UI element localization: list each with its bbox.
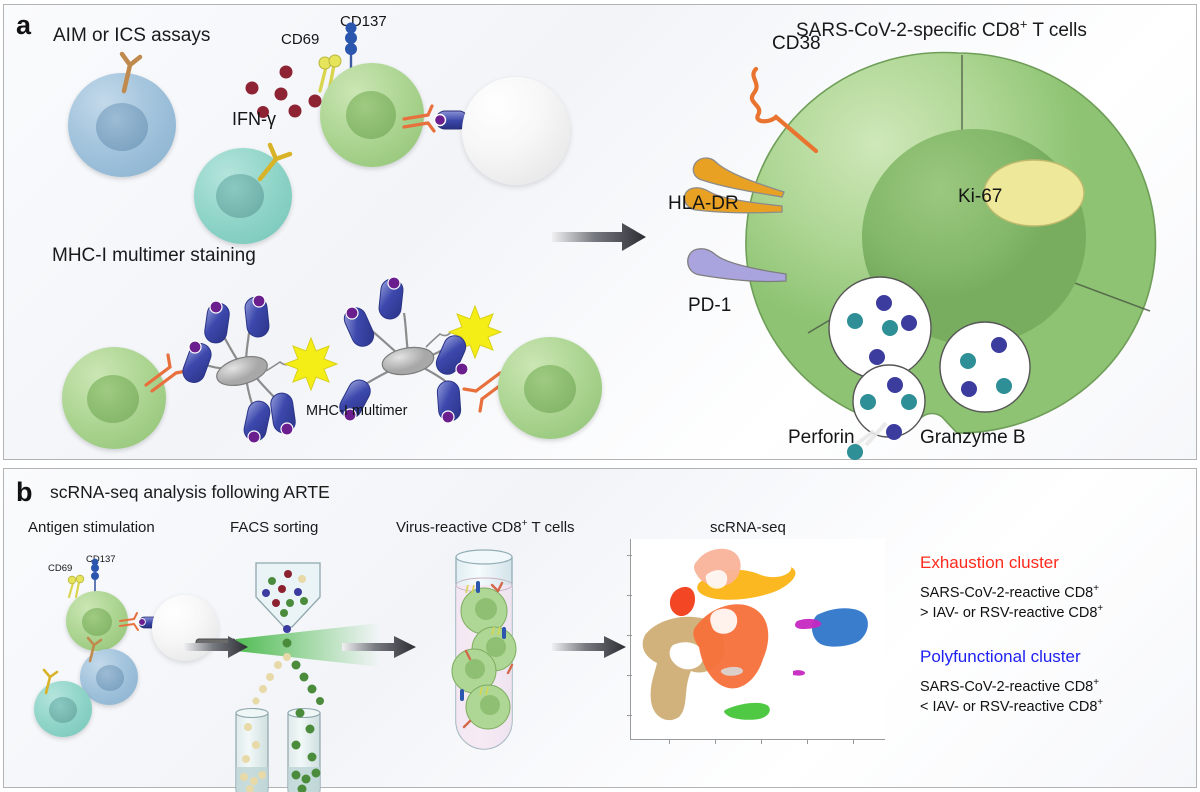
cell-nucleus xyxy=(96,103,148,151)
tcr-icon-blue-cell xyxy=(104,49,154,95)
facs-sorter xyxy=(230,561,420,761)
tcr-icon-teal-cell xyxy=(252,139,304,185)
cell-nucleus xyxy=(87,375,139,423)
pd1-label: PD-1 xyxy=(688,295,731,317)
collection-tube-left xyxy=(236,709,268,792)
poly-line1-sup: + xyxy=(1093,677,1099,688)
arrow-right-panel-a xyxy=(552,220,652,256)
umap-cluster-magenta xyxy=(793,619,821,676)
granule-1 xyxy=(829,277,931,379)
umap-x-tick xyxy=(715,739,716,744)
antigen-stimulation-heading: Antigen stimulation xyxy=(28,519,155,536)
cell-culture-tube xyxy=(446,549,536,749)
umap-cluster-green xyxy=(724,703,770,720)
released-granzyme xyxy=(886,424,902,440)
virus-reactive-heading: Virus-reactive CD8+ T cells xyxy=(396,519,575,536)
panel-b: b scRNA-seq analysis following ARTE Anti… xyxy=(3,468,1197,788)
panel-a-label: a xyxy=(16,10,31,41)
panel-b-title: scRNA-seq analysis following ARTE xyxy=(50,482,330,503)
polyfunctional-cluster-title: Polyfunctional cluster xyxy=(920,647,1081,667)
umap-x-tick xyxy=(761,739,762,744)
ifn-gamma-label: IFN-γ xyxy=(232,109,276,130)
tcr-icon-blue-b xyxy=(78,635,112,663)
panel-b-label: b xyxy=(16,477,32,508)
cell-nucleus xyxy=(49,697,77,723)
umap-cluster-blue xyxy=(812,608,868,646)
granzyme-b-label: Granzyme B xyxy=(920,427,1026,449)
cell-nucleus xyxy=(524,365,576,413)
cd38-icon xyxy=(746,53,876,153)
umap-x-tick xyxy=(669,739,670,744)
umap-y-tick xyxy=(627,555,632,556)
cd38-label: CD38 xyxy=(772,33,821,55)
umap-y-tick xyxy=(627,635,632,636)
polyfunctional-cluster-body: SARS-CoV-2-reactive CD8+ < IAV- or RSV-r… xyxy=(920,678,1103,717)
granule-2 xyxy=(940,322,1030,412)
collection-tube-right xyxy=(288,709,321,792)
arrow-right-b-2 xyxy=(342,635,422,661)
perforin-label: Perforin xyxy=(788,427,855,449)
hla-dr-label: HLA-DR xyxy=(668,193,739,215)
apc-bead xyxy=(462,77,570,185)
right-title-pre: SARS-CoV-2-specific CD8 xyxy=(796,20,1020,41)
exhaustion-cluster-body: SARS-CoV-2-reactive CD8+ > IAV- or RSV-r… xyxy=(920,584,1103,623)
panel-a: a AIM or ICS assays MHC-I multimer stain… xyxy=(3,4,1197,460)
umap-cluster-red xyxy=(670,587,695,616)
poly-line1: SARS-CoV-2-reactive CD8 xyxy=(920,679,1093,695)
poly-line2: < IAV- or RSV-reactive CD8 xyxy=(920,699,1097,715)
virus-reactive-post: T cells xyxy=(528,519,575,536)
umap-clusters xyxy=(631,539,885,739)
mhc-multimer-label: MHC-I multimer xyxy=(306,403,408,419)
tcr-icon-teal-b xyxy=(34,667,68,695)
virus-reactive-pre: Virus-reactive CD8 xyxy=(396,519,522,536)
panel-a-heading-multimer: MHC-I multimer staining xyxy=(52,245,256,267)
panel-a-heading-aim: AIM or ICS assays xyxy=(53,25,210,47)
cell-nucleus xyxy=(82,608,112,636)
ki67-label: Ki-67 xyxy=(958,186,1002,208)
figure-root: a AIM or ICS assays MHC-I multimer stain… xyxy=(0,0,1200,792)
exhaustion-cluster-title: Exhaustion cluster xyxy=(920,553,1059,573)
exh-line2: > IAV- or RSV-reactive CD8 xyxy=(920,605,1097,621)
umap-y-tick xyxy=(627,715,632,716)
arrow-right-b-1 xyxy=(184,635,254,661)
facs-sorting-heading: FACS sorting xyxy=(230,519,318,536)
scrnaseq-heading: scRNA-seq xyxy=(710,519,786,536)
umap-x-tick xyxy=(853,739,854,744)
umap-plot xyxy=(630,539,885,740)
umap-x-tick xyxy=(807,739,808,744)
umap-y-tick xyxy=(627,675,632,676)
cell-nucleus xyxy=(346,91,396,139)
panel-a-right-title: SARS-CoV-2-specific CD8+ T cells xyxy=(796,20,1087,42)
exh-line2-sup: + xyxy=(1097,603,1103,614)
pd1-icon xyxy=(686,243,806,293)
umap-y-tick xyxy=(627,595,632,596)
arrow-right-b-3 xyxy=(552,635,632,661)
poly-line2-sup: + xyxy=(1097,697,1103,708)
right-title-post: T cells xyxy=(1027,20,1087,41)
cell-green-multimer-right xyxy=(498,337,602,439)
cell-nucleus xyxy=(96,665,124,691)
exh-line1: SARS-CoV-2-reactive CD8 xyxy=(920,585,1093,601)
exh-line1-sup: + xyxy=(1093,583,1099,594)
